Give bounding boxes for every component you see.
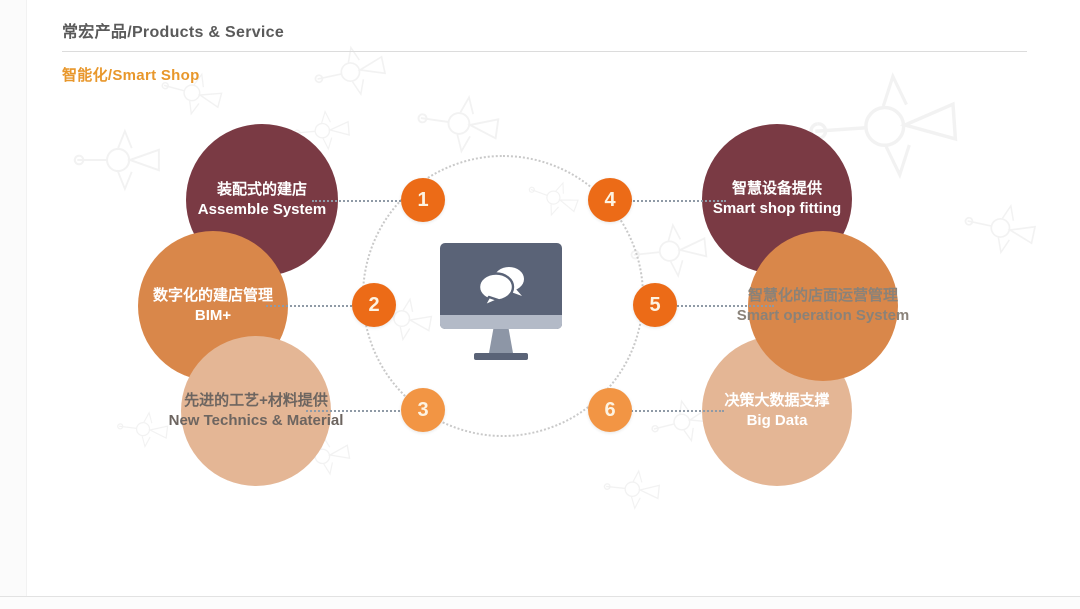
badge-2[interactable]: 2 [352, 283, 396, 327]
connector-3 [306, 410, 404, 412]
bubble-label-cn-6: 决策大数据支撑 [724, 392, 829, 410]
bubble-label-en-3: New Technics & Material [169, 412, 344, 430]
bubble-label-en-1: Assemble System [198, 201, 326, 219]
connector-6 [628, 410, 724, 412]
bubble-label-cn-4: 智慧设备提供 [732, 180, 822, 198]
badge-3[interactable]: 3 [401, 388, 445, 432]
bubble-label-cn-2: 数字化的建店管理 [153, 287, 273, 305]
badge-number-3: 3 [417, 399, 428, 422]
monitor-screen-base [440, 315, 562, 329]
badge-number-6: 6 [604, 399, 615, 422]
bubble-label-cn-1: 装配式的建店 [217, 181, 307, 199]
badge-1[interactable]: 1 [401, 178, 445, 222]
page-subtitle: 智能化/Smart Shop [62, 64, 1027, 85]
badge-6[interactable]: 6 [588, 388, 632, 432]
monitor-foot [474, 353, 528, 360]
badge-number-2: 2 [368, 294, 379, 317]
connector-4 [630, 200, 726, 202]
monitor-chat-icon [440, 243, 562, 347]
bubble-label-en-2: BIM+ [195, 307, 231, 325]
badge-number-4: 4 [604, 189, 615, 212]
connector-2 [266, 305, 356, 307]
connector-5 [674, 305, 774, 307]
header-divider [62, 51, 1027, 52]
bubble-label-cn-5: 智慧化的店面运营管理 [748, 287, 898, 305]
monitor-neck [489, 329, 513, 353]
monitor-screen [440, 243, 562, 329]
badge-5[interactable]: 5 [633, 283, 677, 327]
bottom-edge-strip [0, 596, 1080, 609]
bubble-label-en-5: Smart operation System [737, 307, 910, 325]
badge-4[interactable]: 4 [588, 178, 632, 222]
bubble-label-cn-3: 先进的工艺+材料提供 [184, 392, 328, 410]
slide-header: 常宏产品/Products & Service 智能化/Smart Shop [62, 18, 1027, 85]
bubble-label-en-6: Big Data [747, 412, 808, 430]
speech-bubbles-icon [474, 263, 530, 307]
badge-number-5: 5 [649, 294, 660, 317]
left-edge-strip [0, 0, 27, 609]
page-title: 常宏产品/Products & Service [62, 18, 1027, 42]
badge-number-1: 1 [417, 189, 428, 212]
connector-1 [312, 200, 408, 202]
slide-canvas: 常宏产品/Products & Service 智能化/Smart Shop 装… [0, 0, 1080, 609]
bubble-label-en-4: Smart shop fitting [713, 200, 841, 218]
